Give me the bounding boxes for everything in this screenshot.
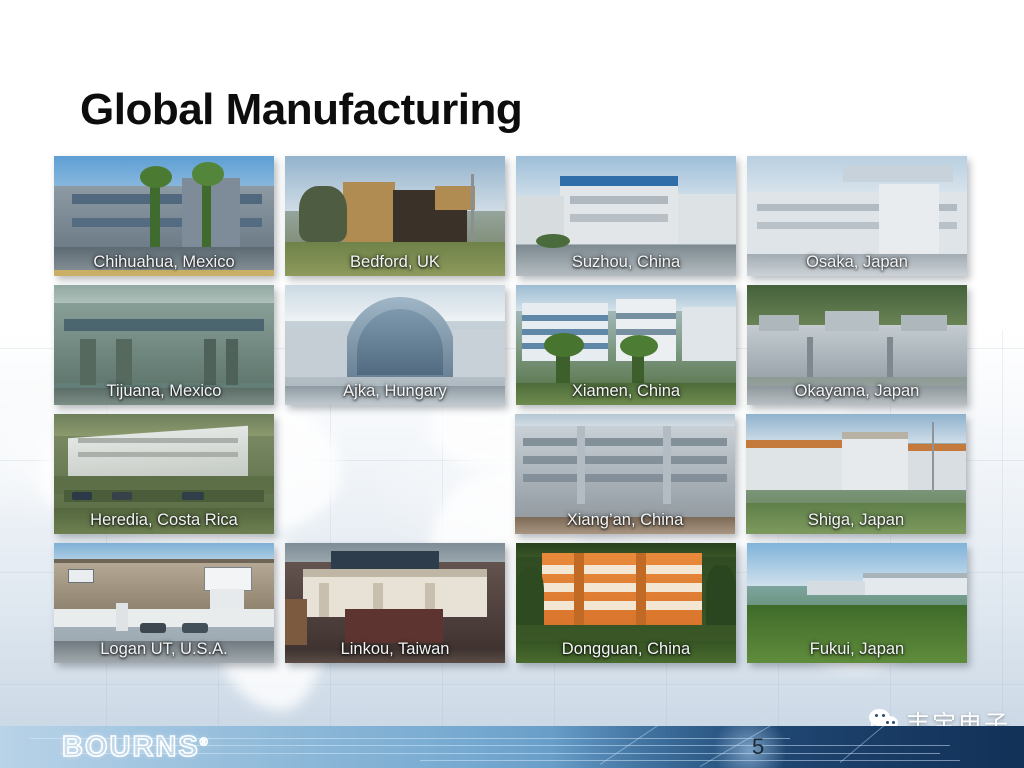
bourns-logo-text: BOURNS [62,731,200,763]
grid-row: Chihuahua, Mexico Bedford, UK [54,156,966,276]
footer-bar: BOURNS® 5 [0,726,1024,768]
footer-glow [712,726,788,768]
facility-label: Xiamen, China [516,382,736,401]
facility-cell-xiamen[interactable]: Xiamen, China [516,285,736,405]
facility-label: Heredia, Costa Rica [54,511,274,530]
facility-cell-chihuahua[interactable]: Chihuahua, Mexico [54,156,274,276]
facility-label: Suzhou, China [516,253,736,272]
facility-label: Osaka, Japan [747,253,967,272]
facility-label: Bedford, UK [285,253,505,272]
registered-mark: ® [200,736,210,748]
facility-label: Okayama, Japan [747,382,967,401]
slide-canvas: Global Manufacturing Chihuahua, Mexico [0,0,1024,768]
facility-cell-tijuana[interactable]: Tijuana, Mexico [54,285,274,405]
facility-cell-fukui[interactable]: Fukui, Japan [747,543,967,663]
facility-label: Ajka, Hungary [285,382,505,401]
facility-photo-grid: Chihuahua, Mexico Bedford, UK [54,156,966,672]
facility-label: Chihuahua, Mexico [54,253,274,272]
grid-row: Logan UT, U.S.A. Linkou, Taiwan [54,543,966,663]
facility-cell-empty [285,414,504,534]
facility-cell-linkou[interactable]: Linkou, Taiwan [285,543,505,663]
facility-cell-suzhou[interactable]: Suzhou, China [516,156,736,276]
facility-label: Linkou, Taiwan [285,640,505,659]
facility-label: Xiang’an, China [515,511,735,530]
facility-label: Dongguan, China [516,640,736,659]
facility-label: Fukui, Japan [747,640,967,659]
facility-cell-okayama[interactable]: Okayama, Japan [747,285,967,405]
facility-cell-shiga[interactable]: Shiga, Japan [746,414,966,534]
facility-cell-dongguan[interactable]: Dongguan, China [516,543,736,663]
facility-cell-heredia[interactable]: Heredia, Costa Rica [54,414,274,534]
grid-row: Tijuana, Mexico Ajka, Hungary [54,285,966,405]
facility-cell-ajka[interactable]: Ajka, Hungary [285,285,505,405]
facility-label: Tijuana, Mexico [54,382,274,401]
circuit-trace [420,760,960,761]
page-title: Global Manufacturing [80,88,522,132]
facility-label: Logan UT, U.S.A. [54,640,274,659]
facility-cell-logan[interactable]: Logan UT, U.S.A. [54,543,274,663]
facility-cell-xiangan[interactable]: Xiang’an, China [515,414,735,534]
bourns-logo: BOURNS® [62,731,210,764]
facility-label: Shiga, Japan [746,511,966,530]
page-number: 5 [752,734,764,760]
facility-cell-bedford[interactable]: Bedford, UK [285,156,505,276]
facility-cell-osaka[interactable]: Osaka, Japan [747,156,967,276]
circuit-trace [120,745,950,746]
grid-row: Heredia, Costa Rica Xiang’an, China [54,414,966,534]
